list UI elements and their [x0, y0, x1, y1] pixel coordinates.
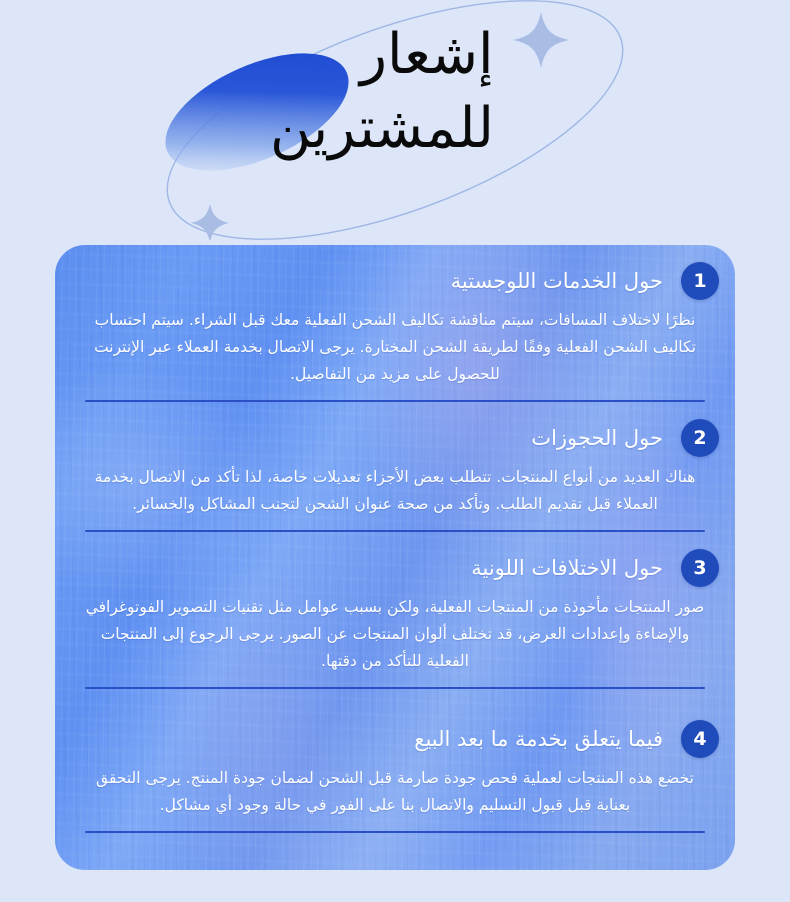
- section-title: حول الاختلافات اللونية: [471, 546, 663, 590]
- section-title: حول الخدمات اللوجستية: [451, 259, 663, 303]
- header: إشعار للمشترين: [0, 0, 790, 240]
- notice-section-2: 2 حول الحجوزات هناك العديد من أنواع المن…: [55, 402, 735, 532]
- section-number-badge: 4: [681, 720, 719, 758]
- title-line-2: للمشترين: [210, 92, 630, 166]
- section-title: حول الحجوزات: [531, 416, 663, 460]
- section-number-badge: 1: [681, 262, 719, 300]
- section-body: تخضع هذه المنتجات لعملية فحص جودة صارمة …: [71, 761, 719, 819]
- section-header: 1 حول الخدمات اللوجستية: [71, 259, 719, 303]
- notice-card: 1 حول الخدمات اللوجستية نظرًا لاختلاف ال…: [55, 245, 735, 870]
- sparkle-icon-bottom: [191, 204, 229, 240]
- section-header: 3 حول الاختلافات اللونية: [71, 546, 719, 590]
- page-title: إشعار للمشترين: [210, 18, 630, 166]
- section-number-badge: 3: [681, 549, 719, 587]
- title-line-1: إشعار: [210, 18, 630, 92]
- section-divider: [85, 831, 705, 833]
- section-number-badge: 2: [681, 419, 719, 457]
- section-header: 4 فيما يتعلق بخدمة ما بعد البيع: [71, 717, 719, 761]
- section-body: نظرًا لاختلاف المسافات، سيتم مناقشة تكال…: [71, 303, 719, 388]
- notice-section-3: 3 حول الاختلافات اللونية صور المنتجات مأ…: [55, 532, 735, 689]
- section-body: هناك العديد من أنواع المنتجات. تتطلب بعض…: [71, 460, 719, 518]
- section-header: 2 حول الحجوزات: [71, 416, 719, 460]
- section-body: صور المنتجات مأخوذة من المنتجات الفعلية،…: [71, 590, 719, 675]
- notice-section-4: 4 فيما يتعلق بخدمة ما بعد البيع تخضع هذه…: [55, 689, 735, 833]
- section-title: فيما يتعلق بخدمة ما بعد البيع: [414, 717, 663, 761]
- notice-section-1: 1 حول الخدمات اللوجستية نظرًا لاختلاف ال…: [55, 245, 735, 402]
